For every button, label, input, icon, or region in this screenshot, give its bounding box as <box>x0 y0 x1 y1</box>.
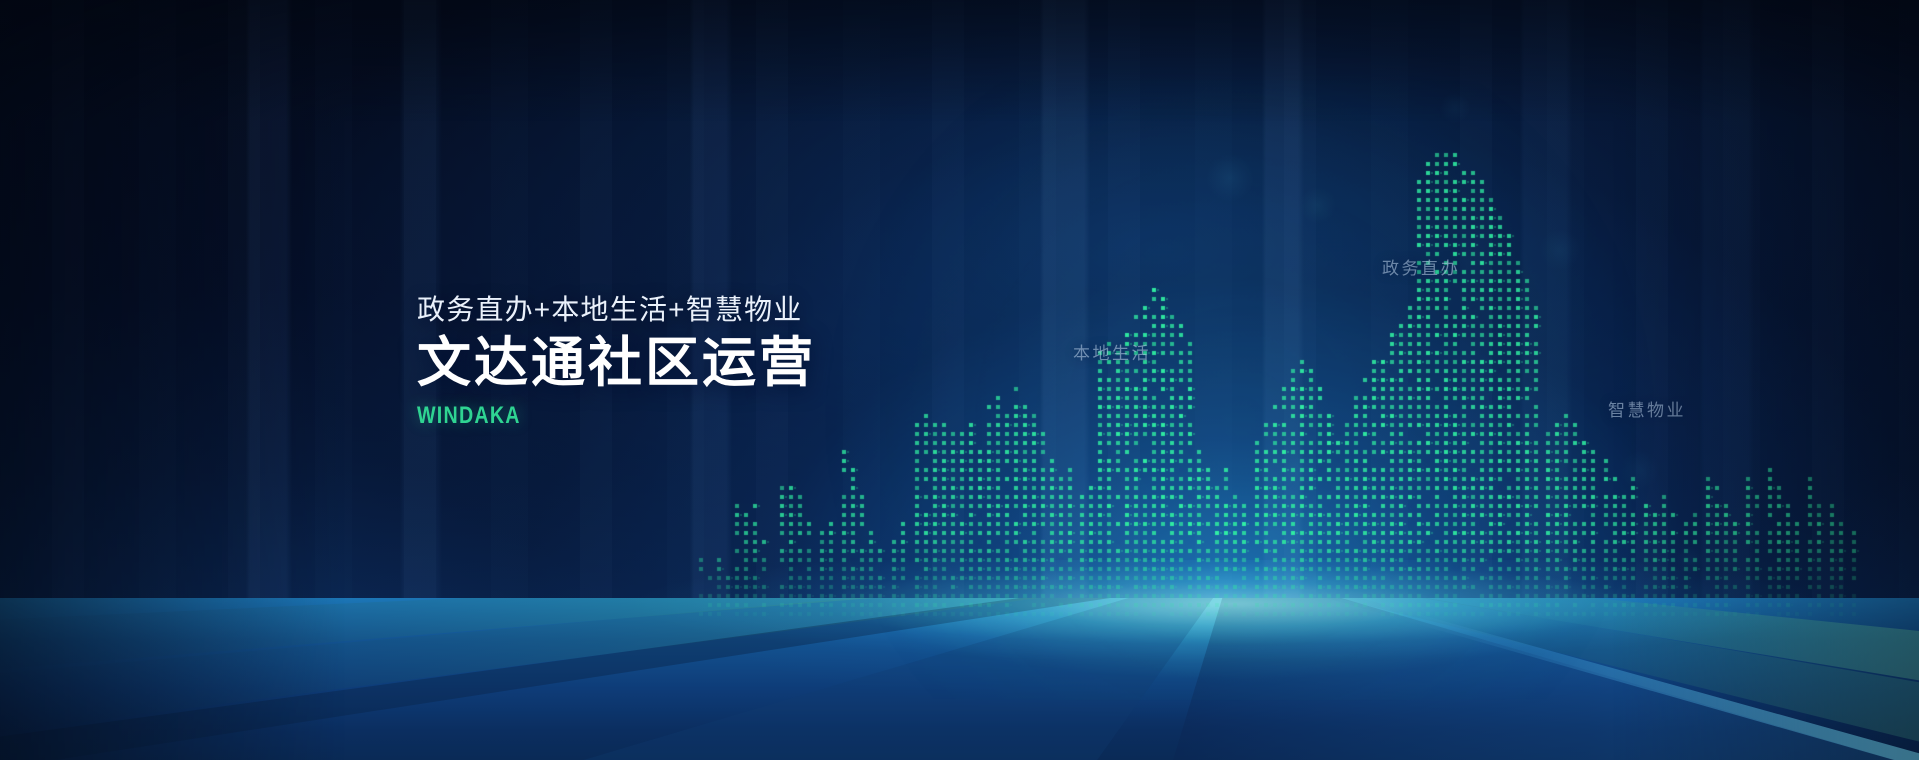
banner-subtitle: 政务直办+本地生活+智慧物业 <box>417 294 816 326</box>
brand-wordmark: WINDAKA <box>417 402 744 430</box>
banner-root: 政务直办 本地生活 智慧物业 政务直办+本地生活+智慧物业 文达通社区运营 WI… <box>0 0 1919 760</box>
headline-block: 政务直办+本地生活+智慧物业 文达通社区运营 WINDAKA <box>417 294 816 430</box>
city-label-local-life: 本地生活 <box>1073 339 1151 364</box>
banner-headline: 文达通社区运营 <box>417 334 816 392</box>
skyline-canvas <box>0 0 1919 760</box>
city-label-government: 政务直办 <box>1382 254 1460 279</box>
city-label-smart-estate: 智慧物业 <box>1608 396 1686 421</box>
dot-matrix-skyline <box>0 0 1919 760</box>
